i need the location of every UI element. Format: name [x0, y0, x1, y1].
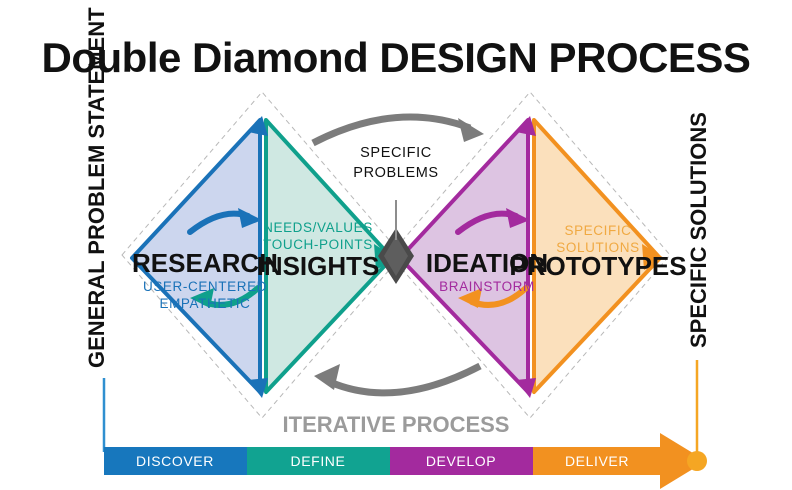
- phase-label-discover: DISCOVER: [136, 453, 214, 469]
- prototypes-heading: PROTOTYPES: [509, 251, 686, 281]
- prototypes-sub-line1: SPECIFIC: [564, 223, 631, 238]
- double-diamond-infographic: Double Diamond DESIGN PROCESS: [0, 0, 792, 490]
- research-sub-line1: USER-CENTERED: [143, 279, 267, 294]
- ideation-base-arrow: [516, 378, 536, 398]
- research-sub-line2: EMPATHETIC: [159, 296, 250, 311]
- research-base-arrow: [248, 378, 268, 398]
- phase-label-define: DEFINE: [291, 453, 346, 469]
- specific-problems-label-line1: SPECIFIC: [360, 145, 432, 161]
- iterative-arc-top: [313, 117, 484, 143]
- iterative-arc-bottom: [314, 364, 480, 393]
- page-title: Double Diamond DESIGN PROCESS: [42, 34, 751, 81]
- left-axis-label: GENERAL PROBLEM STATEMENT: [84, 7, 109, 368]
- phase-bar: DISCOVER DEFINE DEVELOP DELIVER: [104, 433, 707, 489]
- phase-label-deliver: DELIVER: [565, 453, 629, 469]
- phase-label-develop: DEVELOP: [426, 453, 496, 469]
- insights-sub-line2: TOUCH-POINTS: [263, 237, 373, 252]
- iterative-process-label: ITERATIVE PROCESS: [283, 412, 510, 437]
- insights-heading: INSIGHTS: [257, 251, 380, 281]
- insights-sub-line1: NEEDS/VALUES: [263, 220, 373, 235]
- ideation-sub-line1: BRAINSTORM: [439, 279, 535, 294]
- right-axis-label: SPECIFIC SOLUTIONS: [686, 112, 711, 348]
- phase-bar-endpoint-dot: [687, 451, 707, 471]
- specific-problems-label-line2: PROBLEMS: [353, 165, 438, 181]
- diagram-canvas: Double Diamond DESIGN PROCESS: [0, 0, 792, 490]
